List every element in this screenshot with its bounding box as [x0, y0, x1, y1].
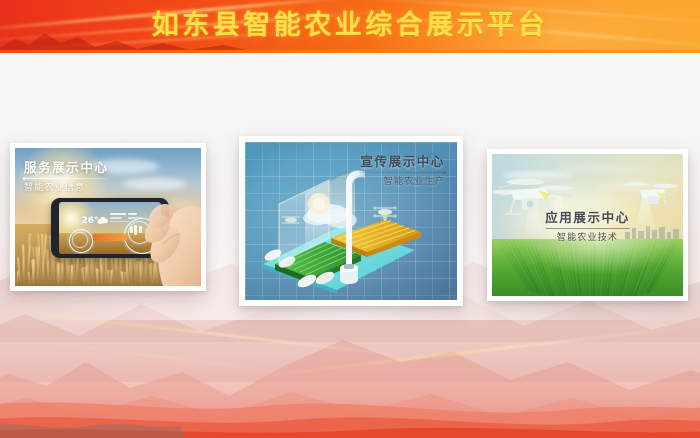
scene-drones-green-field: 应用展示中心 智能农业技术 — [492, 154, 683, 296]
drone-right — [373, 206, 396, 221]
card-promotion-caption: 宣传展示中心 智能农业生产 — [360, 154, 445, 188]
card-promotion-title: 宣传展示中心 — [360, 154, 445, 169]
card-promotion-subtitle: 智能农业生产 — [360, 176, 445, 188]
scene-wheat-field-phone: 26° — [15, 148, 201, 286]
card-promotion-image: 宣传展示中心 智能农业生产 — [245, 142, 457, 300]
cloud-icon — [97, 216, 109, 225]
card-application-title: 应用展示中心 — [545, 210, 630, 225]
header-banner: 如东县智能农业综合展示平台 — [0, 0, 700, 53]
card-application-image: 应用展示中心 智能农业技术 — [492, 154, 683, 296]
hand-holding-phone — [143, 184, 201, 286]
caption-divider — [545, 228, 630, 229]
card-service-image: 26° — [15, 148, 201, 286]
green-field — [492, 239, 683, 296]
card-service-display-center[interactable]: 26° — [10, 143, 206, 291]
card-service-title: 服务展示中心 — [24, 160, 109, 175]
card-service-subtitle: 智能农业信息 — [24, 182, 109, 194]
hud-banner-chip — [93, 234, 127, 241]
app-root: 如东县智能农业综合展示平台 26° — [0, 0, 700, 438]
page-title: 如东县智能农业综合展示平台 — [0, 7, 700, 45]
card-application-display-center[interactable]: 应用展示中心 智能农业技术 — [487, 149, 688, 301]
banner-bottom-edge — [0, 50, 700, 53]
card-promotion-display-center[interactable]: 宣传展示中心 智能农业生产 — [239, 136, 463, 306]
caption-divider — [360, 172, 445, 173]
field-highlight — [492, 239, 683, 296]
card-application-subtitle: 智能农业技术 — [545, 232, 630, 244]
card-application-caption: 应用展示中心 智能农业技术 — [545, 210, 630, 244]
scene-isometric-smart-farm: 宣传展示中心 智能农业生产 — [245, 142, 457, 300]
caption-divider — [24, 178, 109, 179]
card-service-caption: 服务展示中心 智能农业信息 — [24, 160, 109, 194]
drone-right — [620, 172, 682, 214]
